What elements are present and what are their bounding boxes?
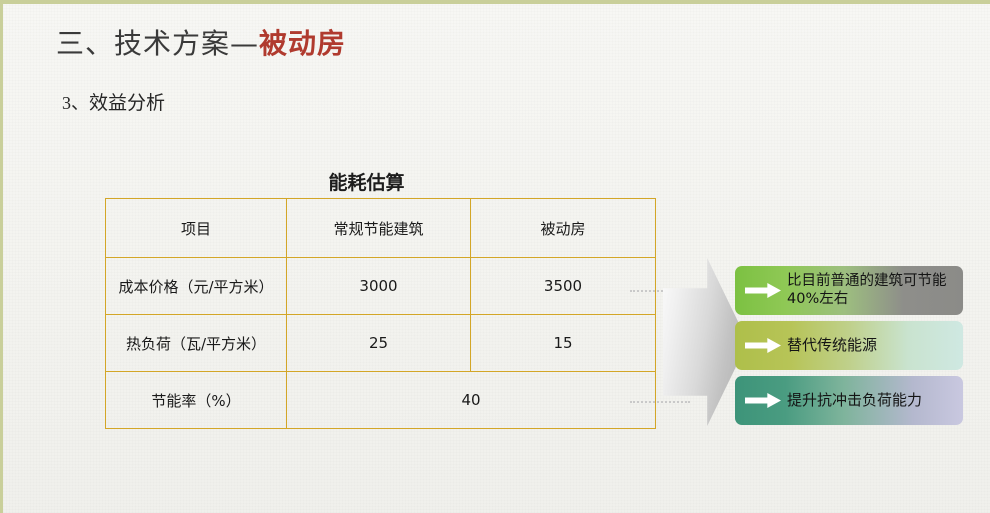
table-header-passive: 被动房 — [471, 199, 656, 258]
table-row: 热负荷（瓦/平方米） 25 15 — [106, 315, 656, 372]
section-subheading: 3、效益分析 — [62, 88, 165, 115]
callout-bar-2: 替代传统能源 — [735, 321, 963, 370]
table-row: 节能率（%） 40 — [106, 372, 656, 429]
table-header-row: 项目 常规节能建筑 被动房 — [106, 199, 656, 258]
callout-bar-1: 比目前普通的建筑可节能40%左右 — [735, 266, 963, 315]
energy-estimate-table: 项目 常规节能建筑 被动房 成本价格（元/平方米） 3000 3500 热负荷（… — [105, 198, 656, 429]
top-edge-rule — [0, 0, 990, 4]
table-header-item: 项目 — [106, 199, 287, 258]
table-header-conventional: 常规节能建筑 — [287, 199, 471, 258]
left-edge-rule — [0, 0, 3, 513]
right-arrow-icon — [745, 283, 781, 298]
right-arrow-icon — [745, 338, 781, 353]
cell-cost-conventional: 3000 — [287, 258, 471, 315]
page-title-main: 三、技术方案— — [56, 27, 259, 60]
connector-line-bottom — [630, 401, 690, 403]
cell-cost-passive: 3500 — [471, 258, 656, 315]
cell-heatload-conventional: 25 — [287, 315, 471, 372]
callout-bar-2-label: 替代传统能源 — [787, 337, 877, 355]
row-label-savingrate: 节能率（%） — [106, 372, 287, 429]
table-title: 能耗估算 — [105, 168, 628, 195]
section-subheading-label: 效益分析 — [89, 92, 165, 114]
callout-bar-3-label: 提升抗冲击负荷能力 — [787, 392, 922, 410]
callout-bar-1-label: 比目前普通的建筑可节能40%左右 — [787, 273, 963, 307]
right-arrow-icon — [745, 393, 781, 408]
table-row: 成本价格（元/平方米） 3000 3500 — [106, 258, 656, 315]
page-title-accent: 被动房 — [259, 27, 346, 60]
slide-canvas: 三、技术方案—被动房 3、效益分析 能耗估算 项目 常规节能建筑 被动房 成本价… — [0, 0, 990, 513]
cell-heatload-passive: 15 — [471, 315, 656, 372]
row-label-cost: 成本价格（元/平方米） — [106, 258, 287, 315]
cell-savingrate-merged: 40 — [287, 372, 656, 429]
section-number: 3、 — [62, 93, 89, 113]
page-title: 三、技术方案—被动房 — [56, 22, 346, 62]
row-label-heatload: 热负荷（瓦/平方米） — [106, 315, 287, 372]
callout-bar-3: 提升抗冲击负荷能力 — [735, 376, 963, 425]
